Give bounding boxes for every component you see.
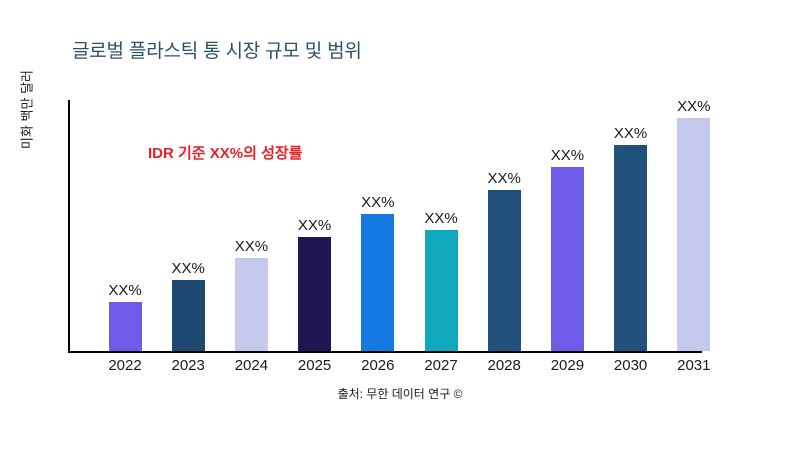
chart-title: 글로벌 플라스틱 통 시장 규모 및 범위 [72,36,362,63]
bar-group[interactable]: XX% [488,164,521,351]
bar-2028[interactable] [488,190,521,351]
bar-value-label-2024: XX% [235,238,268,255]
bar-2026[interactable] [361,214,394,351]
x-tick-2022: 2022 [95,357,155,374]
bar-group[interactable]: XX% [677,92,710,351]
bar-value-label-2028: XX% [488,170,521,187]
x-tick-2026: 2026 [348,357,408,374]
bar-2030[interactable] [614,145,647,351]
x-tick-2031: 2031 [664,357,724,374]
x-tick-2025: 2025 [285,357,345,374]
plot-area: XX%XX%XX%XX%XX%XX%XX%XX%XX%XX% [68,100,782,353]
bar-2022[interactable] [109,302,142,351]
bar-group[interactable]: XX% [172,254,205,351]
bar-group[interactable]: XX% [235,232,268,351]
bar-2023[interactable] [172,280,205,351]
y-axis-label: 미화 백만 달러 [17,40,36,180]
bar-value-label-2030: XX% [614,125,647,142]
bar-value-label-2027: XX% [424,210,457,227]
bar-group[interactable]: XX% [425,204,458,351]
bar-value-label-2023: XX% [172,260,205,277]
x-tick-2023: 2023 [158,357,218,374]
bar-value-label-2029: XX% [551,147,584,164]
bar-group[interactable]: XX% [614,119,647,351]
x-axis-spine [68,351,702,353]
bar-group[interactable]: XX% [361,188,394,351]
bar-value-label-2031: XX% [677,98,710,115]
x-tick-2027: 2027 [411,357,471,374]
bar-value-label-2026: XX% [361,194,394,211]
y-axis-spine [68,100,70,353]
x-tick-2029: 2029 [537,357,597,374]
x-tick-2028: 2028 [474,357,534,374]
bar-value-label-2022: XX% [108,282,141,299]
bar-group[interactable]: XX% [109,276,142,351]
bar-2024[interactable] [235,258,268,351]
x-tick-2024: 2024 [221,357,281,374]
bar-2027[interactable] [425,230,458,351]
bar-2029[interactable] [551,167,584,351]
bar-group[interactable]: XX% [298,211,331,351]
bar-group[interactable]: XX% [551,141,584,351]
bar-value-label-2025: XX% [298,217,331,234]
bar-2031[interactable] [677,118,710,351]
x-tick-2030: 2030 [601,357,661,374]
source-note: 출처: 무한 데이터 연구 © [0,385,800,402]
chart-container: 글로벌 플라스틱 통 시장 규모 및 범위 미화 백만 달러 IDR 기준 XX… [0,0,800,450]
bar-2025[interactable] [298,237,331,351]
